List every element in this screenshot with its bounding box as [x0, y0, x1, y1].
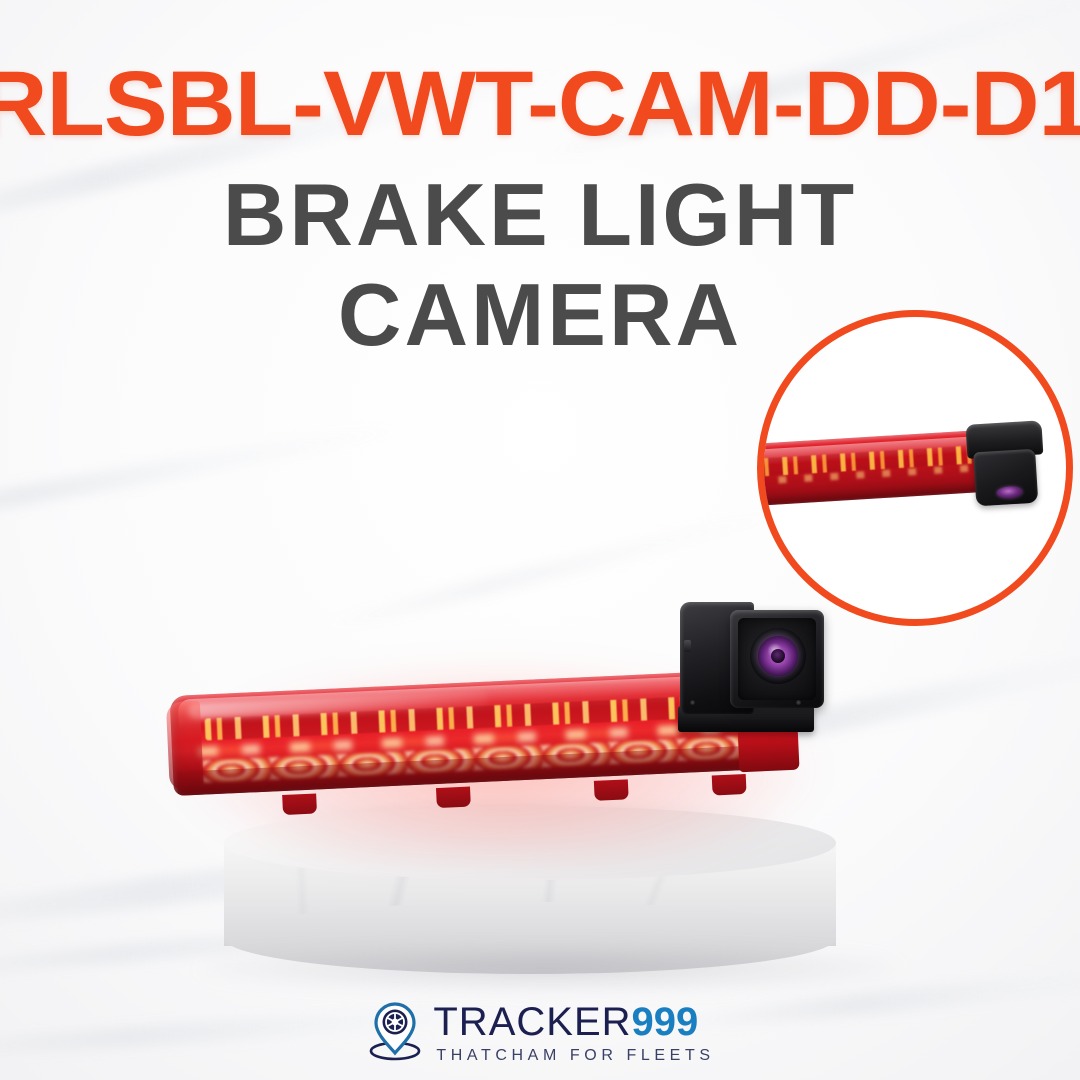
product-code-title: RLSBL-VWT-CAM-DD-D1-N [0, 58, 1080, 150]
map-pin-wheel-icon [365, 1000, 425, 1062]
inset-product-assembly [757, 411, 1063, 526]
pedestal-floor-shadow [200, 946, 900, 990]
main-product-assembly [150, 560, 870, 860]
logo-tagline: THATCHAM FOR FLEETS [433, 1047, 714, 1065]
lens-left-endcap [166, 701, 204, 790]
product-marketing-image: RLSBL-VWT-CAM-DD-D1-N BRAKE LIGHT CAMERA [0, 0, 1080, 1080]
camera-module [670, 596, 830, 736]
mounting-tab [282, 794, 317, 816]
subtitle-line-1: BRAKE LIGHT [0, 168, 1080, 262]
logo-brand-suffix: 999 [632, 1002, 699, 1042]
camera-screw [796, 700, 801, 705]
mounting-tab [712, 774, 747, 796]
inset-brake-light-bar [757, 429, 994, 506]
brand-logo: TRACKER 999 THATCHAM FOR FLEETS [0, 1000, 1080, 1065]
mounting-tab [436, 787, 471, 809]
logo-brand-primary: TRACKER [433, 1002, 631, 1042]
camera-side-connector [684, 640, 691, 652]
mounting-tab [594, 779, 629, 801]
camera-lens-pupil [771, 649, 785, 663]
camera-screw [690, 700, 695, 705]
